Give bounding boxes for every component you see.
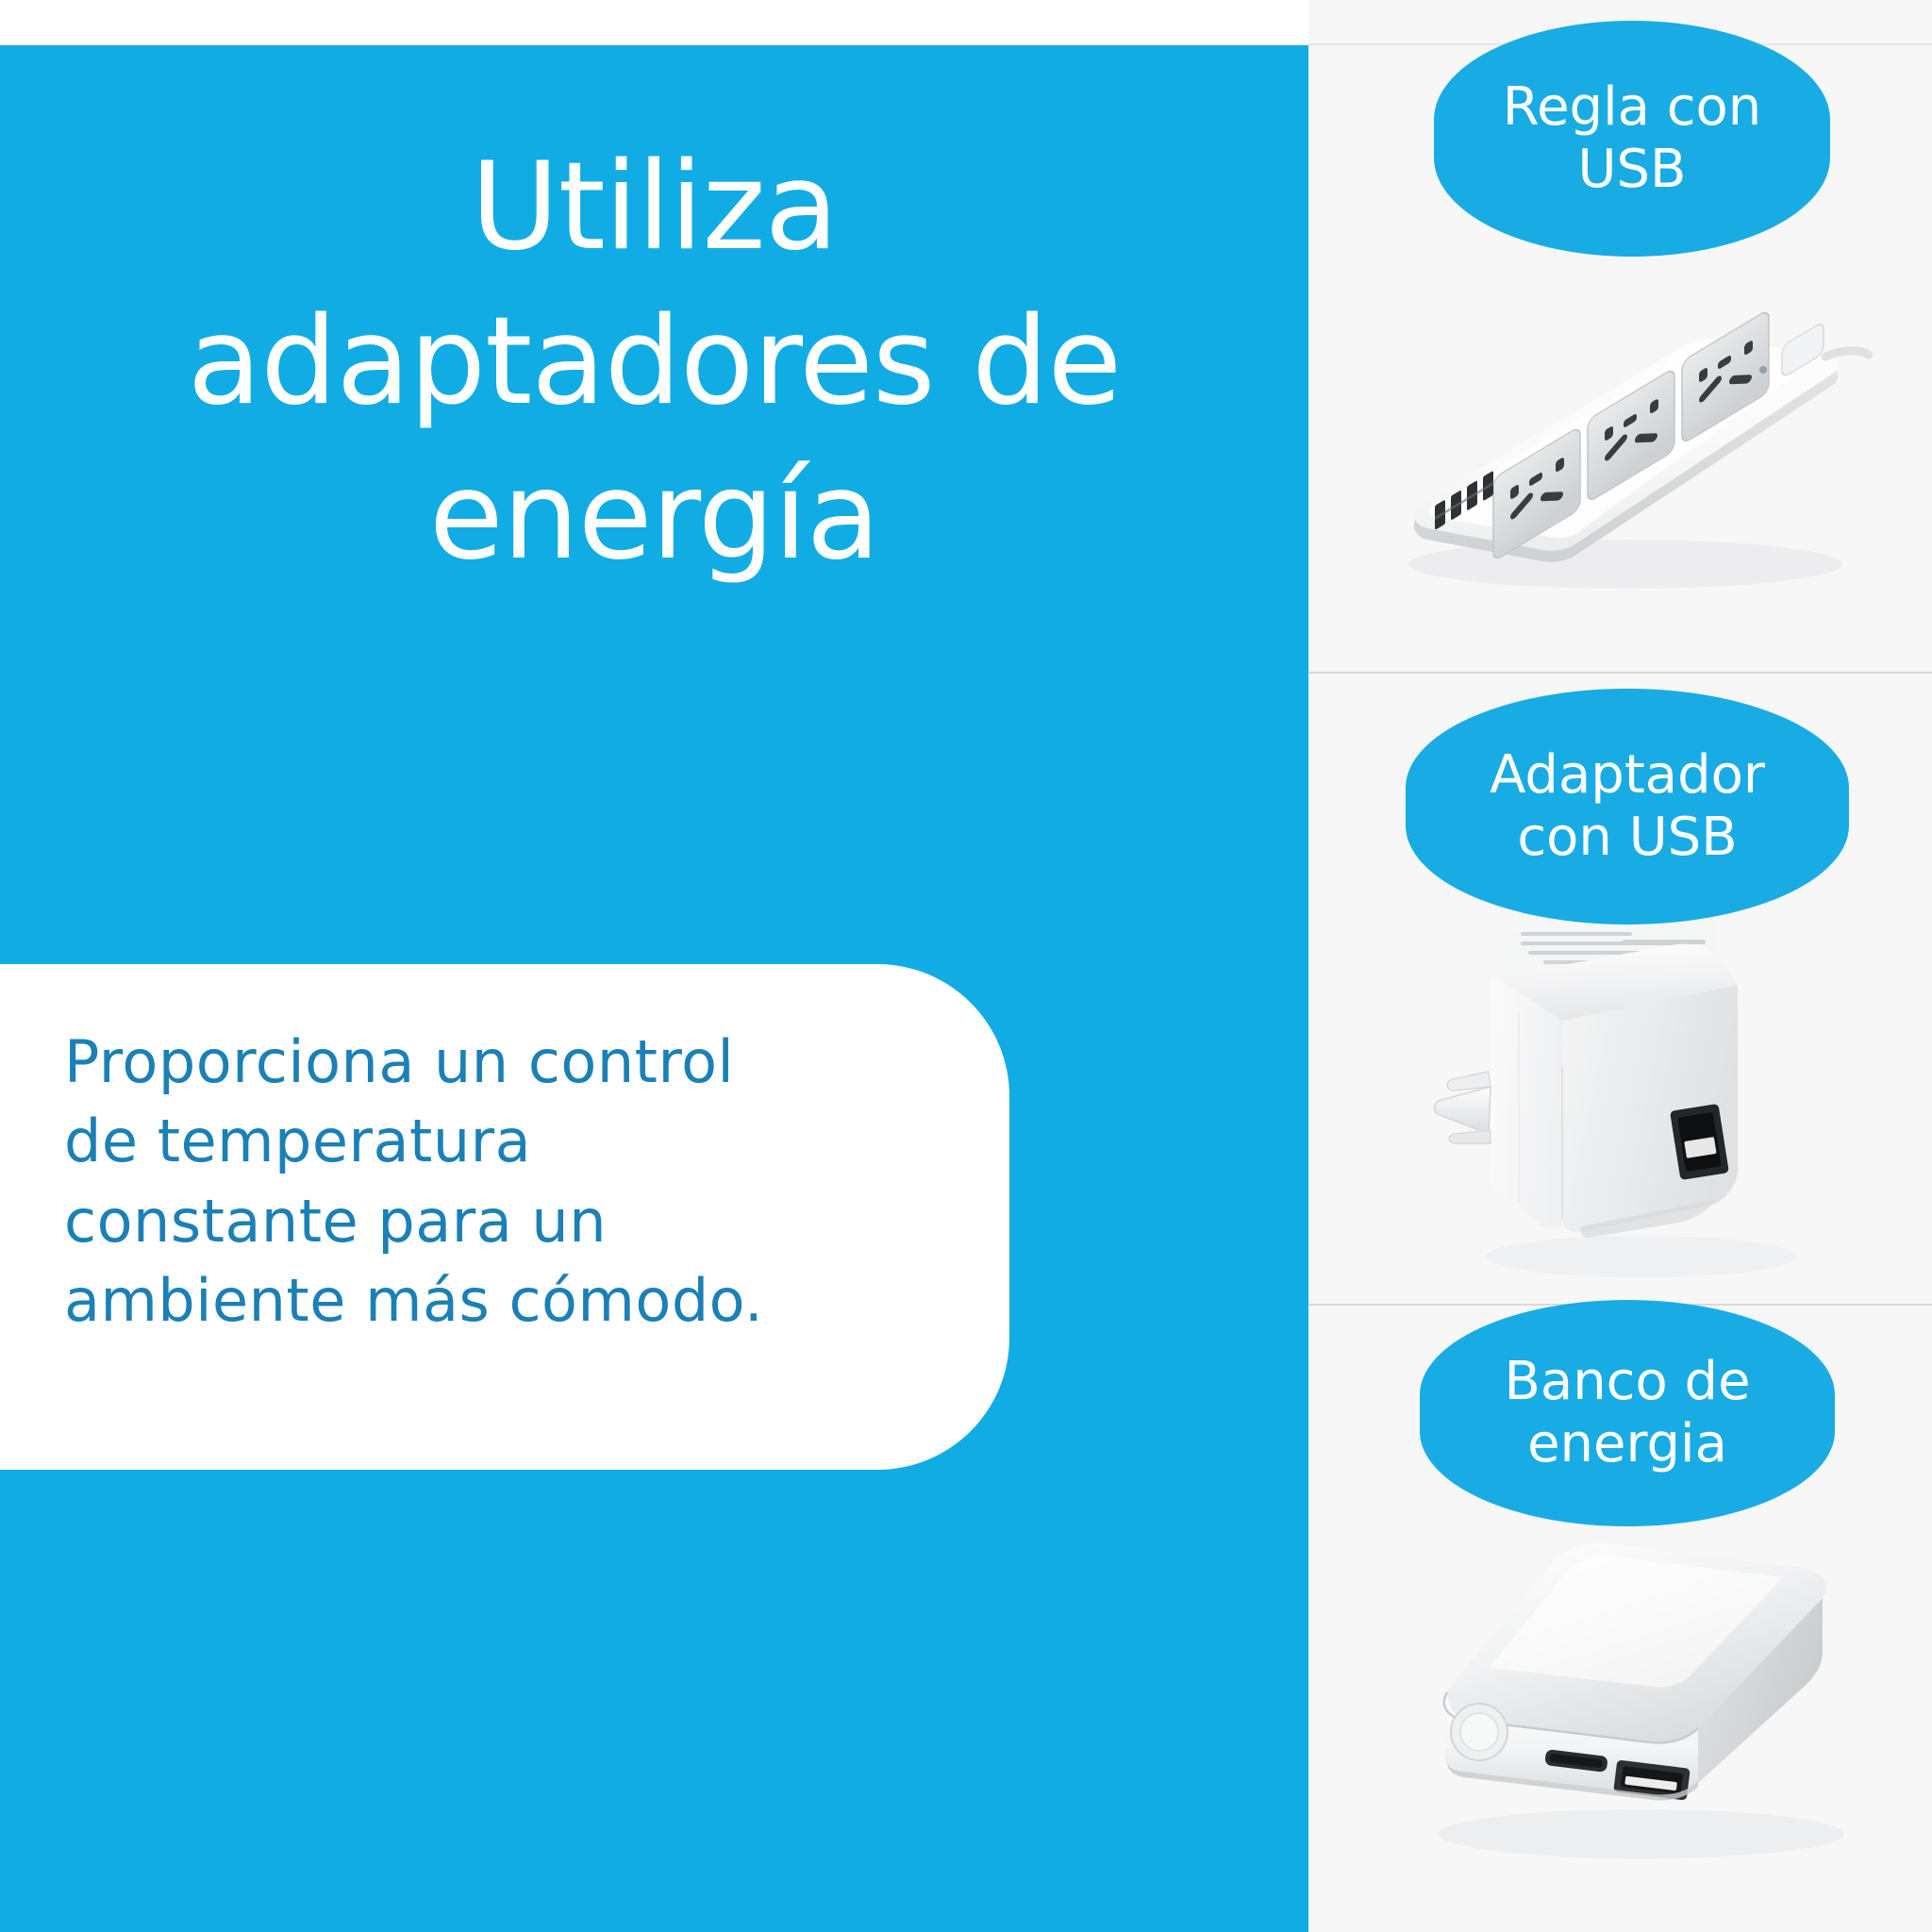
badge-2-line-1: Adaptador [1490,744,1765,807]
badge-1-line-1: Regla con [1503,76,1762,139]
badge-3-line-2: energia [1504,1413,1750,1475]
description-line-2: de temperatura [64,1102,906,1181]
product-badge-adaptador-con-usb[interactable]: Adaptador con USB [1406,689,1849,924]
badge-2-line-2: con USB [1490,807,1765,869]
description-line-1: Proporciona un control [64,1023,906,1102]
page-title-line-3: energía [57,440,1252,594]
page-title-line-2: adaptadores de [57,285,1252,440]
product-badge-regla-con-usb[interactable]: Regla con USB [1434,21,1830,257]
usb-wall-adapter-photo [1387,887,1858,1283]
badge-3-line-1: Banco de [1504,1351,1750,1413]
product-badge-banco-de-energia[interactable]: Banco de energia [1420,1300,1835,1526]
description-line-3: constante para un [64,1182,906,1261]
description-card: Proporciona un control de temperatura co… [0,964,1009,1470]
description-line-4: ambiente más cómodo. [64,1261,906,1341]
page-title: Utiliza adaptadores de energía [0,130,1308,593]
page-title-line-1: Utiliza [57,130,1252,285]
infographic-poster: Utiliza adaptadores de energía Proporcio… [0,0,1932,1932]
plug-prong [1435,1072,1491,1143]
power-bank-photo [1358,1509,1887,1887]
badge-1-line-2: USB [1503,139,1762,201]
power-strip-with-usb-photo [1382,302,1873,613]
power-button [1451,1704,1507,1760]
